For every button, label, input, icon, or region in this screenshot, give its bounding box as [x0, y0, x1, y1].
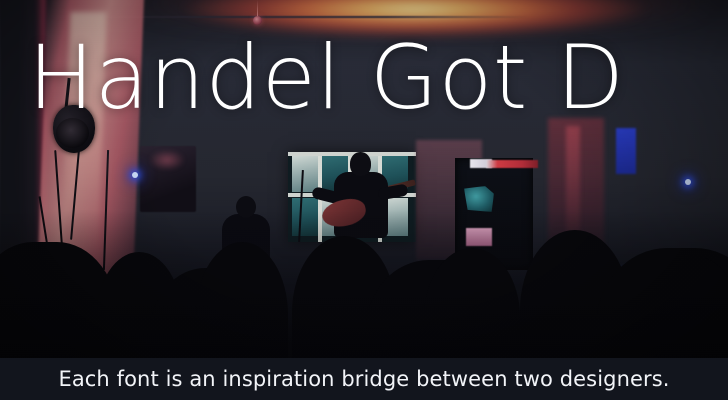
- font-name-title: Handel Got D: [28, 34, 728, 122]
- font-specimen-poster: Handel Got D Each font is an inspiration…: [0, 0, 728, 400]
- caption-bar: Each font is an inspiration bridge betwe…: [0, 358, 728, 400]
- caption-text: Each font is an inspiration bridge betwe…: [58, 367, 669, 391]
